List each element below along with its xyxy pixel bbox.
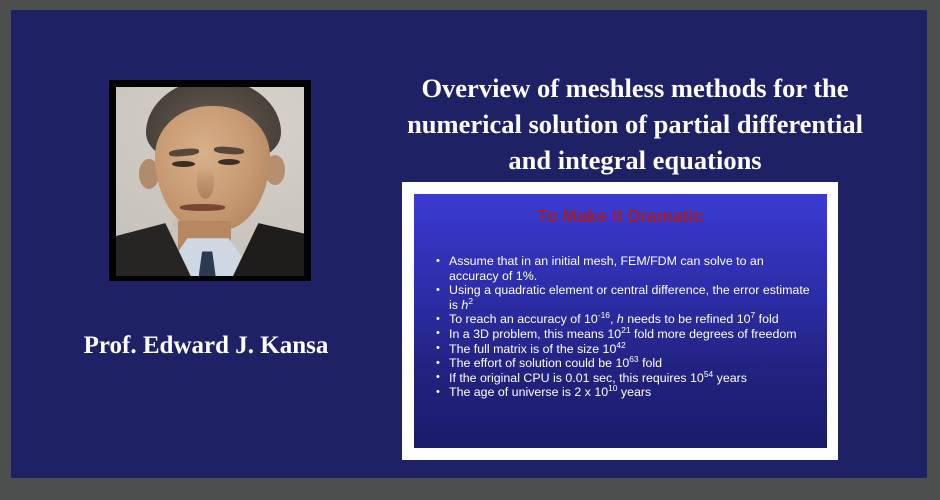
portrait-mouth [180,204,225,210]
presenter-photo [109,80,311,281]
embedded-slide: To Make It Dramatic Assume that in an in… [414,194,827,448]
page-title-line-3: and integral equations [341,142,927,178]
presenter-name: Prof. Edward J. Kansa [41,332,371,360]
list-item: Using a quadratic element or central dif… [435,283,815,312]
portrait-nose [197,166,214,198]
embedded-slide-frame: To Make It Dramatic Assume that in an in… [402,182,838,460]
embedded-slide-title: To Make It Dramatic [414,206,827,227]
list-item: Assume that in an initial mesh, FEM/FDM … [435,254,815,283]
page-title: Overview of meshless methods for the num… [341,70,927,178]
list-item: The effort of solution could be 1063 fol… [435,356,815,371]
portrait-eye-right [218,159,241,165]
page-title-line-2: numerical solution of partial differenti… [341,106,927,142]
presentation-slide: Overview of meshless methods for the num… [11,10,927,478]
page-title-line-1: Overview of meshless methods for the [341,70,927,106]
list-item: The age of universe is 2 x 1010 years [435,385,815,400]
outer-frame: Overview of meshless methods for the num… [0,0,940,500]
portrait-image [116,87,304,276]
embedded-slide-bullet-list: Assume that in an initial mesh, FEM/FDM … [435,254,815,400]
list-item: If the original CPU is 0.01 sec, this re… [435,371,815,386]
list-item: The full matrix is of the size 1042 [435,342,815,357]
portrait-eye-left [172,161,195,167]
